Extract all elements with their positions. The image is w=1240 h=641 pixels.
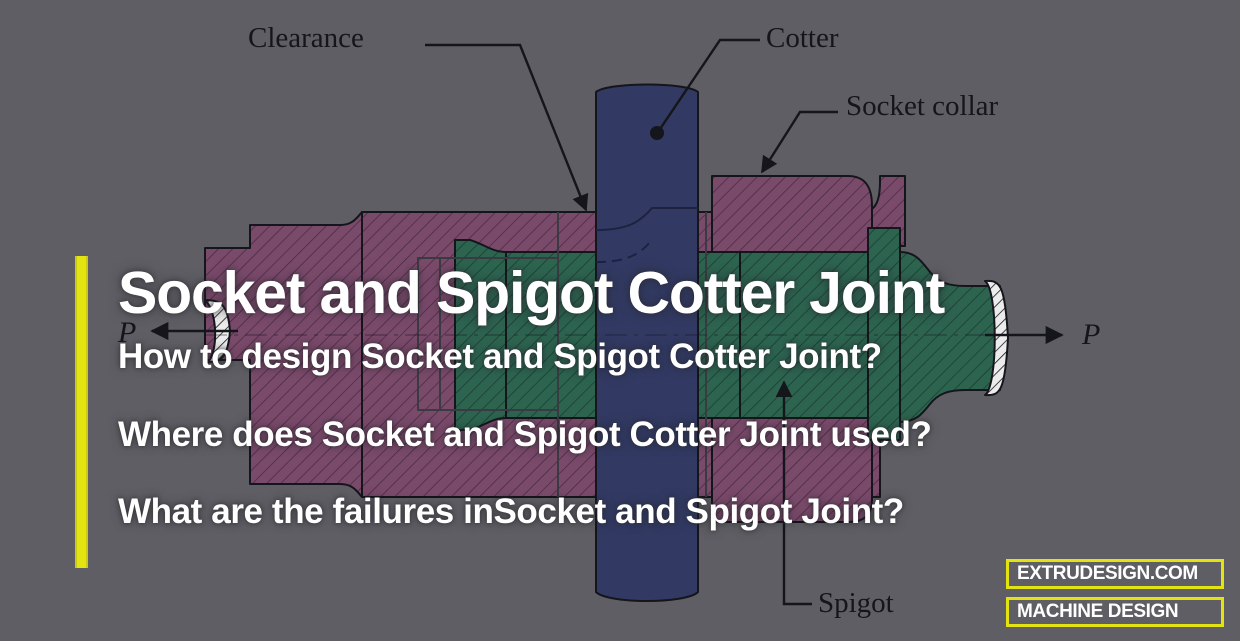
socket-collar-leader (762, 112, 838, 172)
badge-category[interactable]: MACHINE DESIGN (1006, 597, 1224, 627)
callout-label-cotter: Cotter (766, 22, 839, 55)
badge-category-label: MACHINE DESIGN (1017, 601, 1178, 623)
clearance-leader (425, 45, 586, 210)
graphic-canvas: Clearance Cotter Socket collar Spigot P … (0, 0, 1240, 641)
headline-block: Socket and Spigot Cotter Joint How to de… (118, 258, 1118, 532)
cotter-leader-dot (650, 126, 664, 140)
badge-site-label: EXTRUDESIGN.COM (1017, 563, 1198, 585)
question-3: What are the failures inSocket and Spigo… (118, 491, 1118, 532)
question-2: Where does Socket and Spigot Cotter Join… (118, 414, 1118, 455)
accent-bar (75, 256, 88, 568)
brand-badges: EXTRUDESIGN.COM MACHINE DESIGN (1006, 559, 1224, 627)
page-title: Socket and Spigot Cotter Joint (118, 258, 1118, 328)
callout-label-socket-collar: Socket collar (846, 90, 998, 123)
callout-label-spigot: Spigot (818, 587, 894, 620)
question-1: How to design Socket and Spigot Cotter J… (118, 336, 1118, 377)
badge-site[interactable]: EXTRUDESIGN.COM (1006, 559, 1224, 589)
callout-label-clearance: Clearance (248, 22, 364, 55)
